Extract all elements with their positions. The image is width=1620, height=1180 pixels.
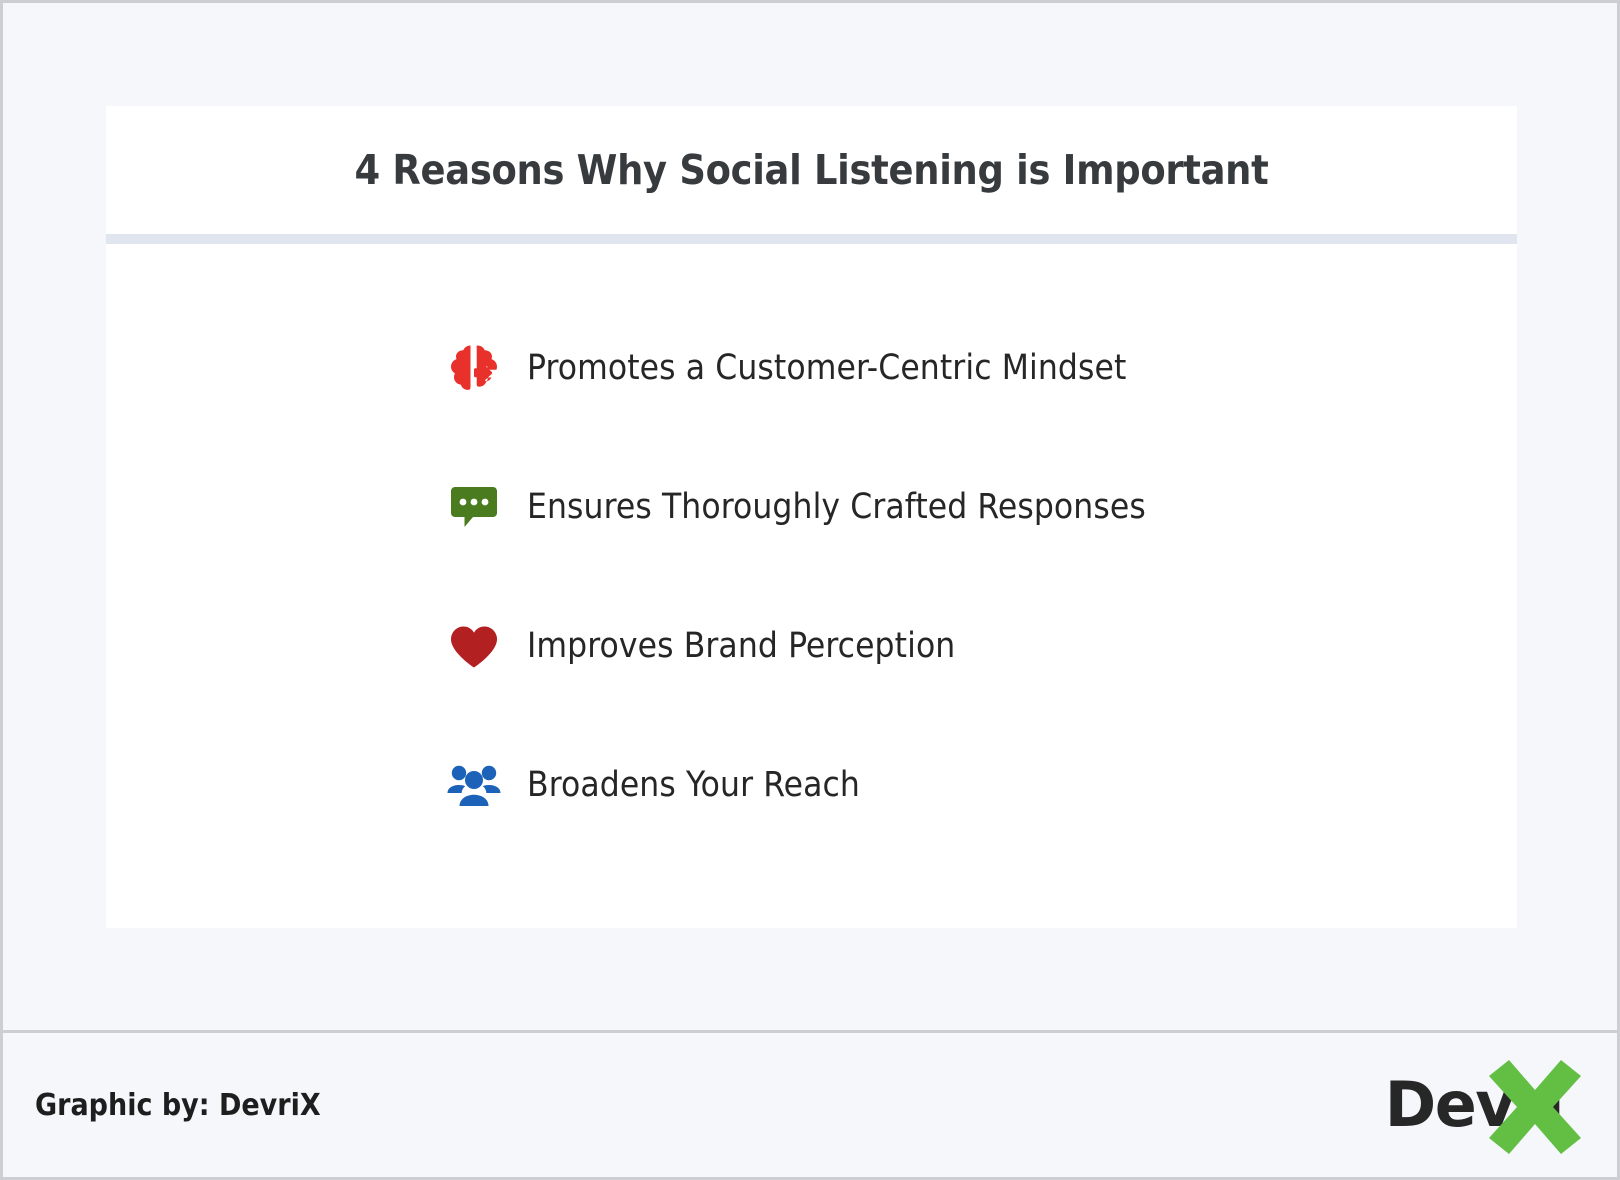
- brain-arrow-icon: [443, 338, 505, 398]
- credit-text: Graphic by: DevriX: [35, 1088, 321, 1123]
- speech-bubble-dots-icon: [443, 477, 505, 537]
- list-item: Promotes a Customer-Centric Mindset: [106, 298, 1517, 437]
- content-area: 4 Reasons Why Social Listening is Import…: [3, 3, 1617, 1030]
- card-header: 4 Reasons Why Social Listening is Import…: [106, 106, 1517, 234]
- header-divider: [106, 234, 1517, 244]
- people-group-icon: [443, 755, 505, 815]
- list-item-label: Promotes a Customer-Centric Mindset: [527, 348, 1126, 388]
- page-title: 4 Reasons Why Social Listening is Import…: [355, 146, 1269, 194]
- devrix-logo[interactable]: Devri: [1385, 1050, 1587, 1160]
- list-item-label: Improves Brand Perception: [527, 626, 955, 666]
- list-item-label: Broadens Your Reach: [527, 765, 860, 805]
- reasons-list: Promotes a Customer-Centric Mindset Ensu…: [106, 298, 1517, 854]
- reasons-card: 4 Reasons Why Social Listening is Import…: [106, 106, 1517, 928]
- infographic-page: 4 Reasons Why Social Listening is Import…: [0, 0, 1620, 1180]
- logo-x-mark-icon: [1483, 1054, 1587, 1158]
- footer: Graphic by: DevriX Devri: [3, 1030, 1617, 1177]
- list-item: Ensures Thoroughly Crafted Responses: [106, 437, 1517, 576]
- list-item-label: Ensures Thoroughly Crafted Responses: [527, 487, 1146, 527]
- card-body: Promotes a Customer-Centric Mindset Ensu…: [106, 244, 1517, 854]
- list-item: Broadens Your Reach: [106, 715, 1517, 854]
- list-item: Improves Brand Perception: [106, 576, 1517, 715]
- heart-icon: [443, 616, 505, 676]
